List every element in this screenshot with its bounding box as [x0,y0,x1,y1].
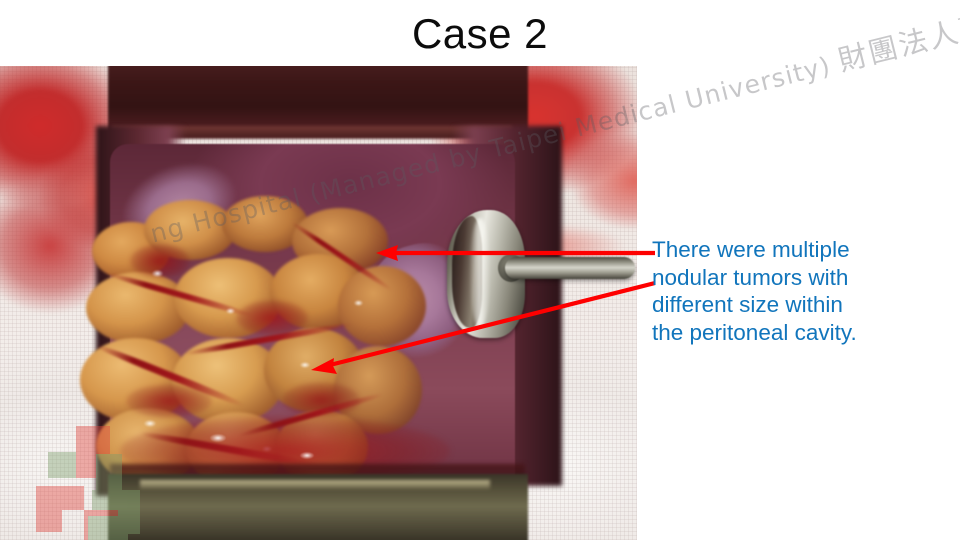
annotation-line-2: nodular tumors with [652,264,952,292]
annotation-line-3: different size within [652,291,952,319]
annotation-line-4: the peritoneal cavity. [652,319,952,347]
annotation-text: There were multiple nodular tumors with … [652,236,952,346]
arrow-upper-horizontal [376,245,655,261]
presentation-slide: Case 2 [0,0,960,540]
annotation-line-1: There were multiple [652,236,952,264]
arrow-lower-diagonal [311,283,655,374]
